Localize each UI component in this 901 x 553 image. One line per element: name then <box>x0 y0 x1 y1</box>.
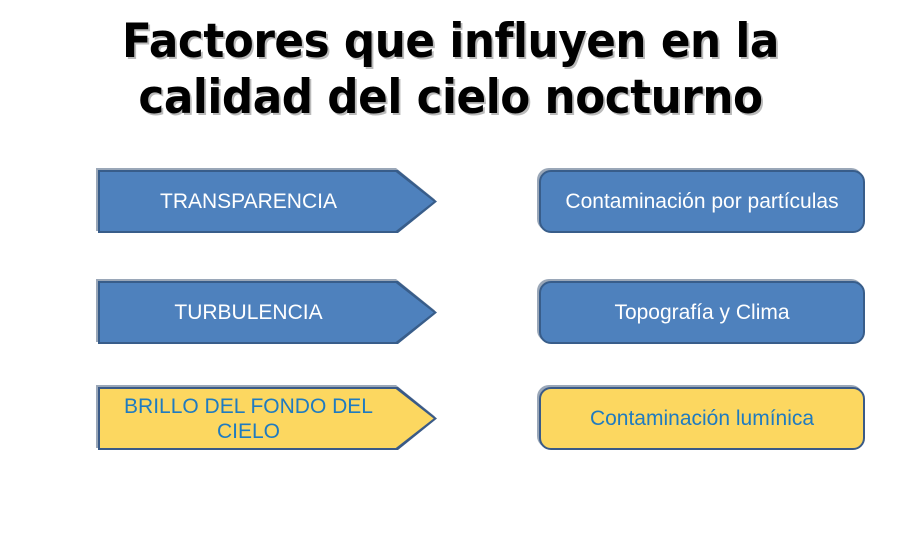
page-title: Factores que influyen en la calidad del … <box>78 14 823 126</box>
slide-canvas: Factores que influyen en la calidad del … <box>0 0 901 553</box>
factor-arrow-brillo-fondo-cielo[interactable]: BRILLO DEL FONDO DEL CIELO <box>100 389 435 448</box>
factor-label: TRANSPARENCIA <box>160 189 337 214</box>
cause-label: Contaminación lumínica <box>590 406 814 431</box>
arrow-border: TURBULENCIA <box>98 281 437 344</box>
cause-box-topografia-clima[interactable]: Topografía y Clima <box>539 281 865 344</box>
cause-label: Contaminación por partículas <box>565 189 838 214</box>
cause-box-contaminacion-particulas[interactable]: Contaminación por partículas <box>539 170 865 233</box>
cause-box-contaminacion-luminica[interactable]: Contaminación lumínica <box>539 387 865 450</box>
diagram-row: TRANSPARENCIA Contaminación por partícul… <box>0 170 901 234</box>
factor-arrow-turbulencia[interactable]: TURBULENCIA <box>100 283 435 342</box>
arrow-border: BRILLO DEL FONDO DEL CIELO <box>98 387 437 450</box>
arrow-border: TRANSPARENCIA <box>98 170 437 233</box>
cause-label: Topografía y Clima <box>614 300 789 325</box>
factor-arrow-transparencia[interactable]: TRANSPARENCIA <box>100 172 435 231</box>
factor-label: TURBULENCIA <box>174 300 322 325</box>
factor-label: BRILLO DEL FONDO DEL CIELO <box>108 394 389 444</box>
diagram-row: TURBULENCIA Topografía y Clima <box>0 281 901 345</box>
diagram-row: BRILLO DEL FONDO DEL CIELO Contaminación… <box>0 387 901 451</box>
